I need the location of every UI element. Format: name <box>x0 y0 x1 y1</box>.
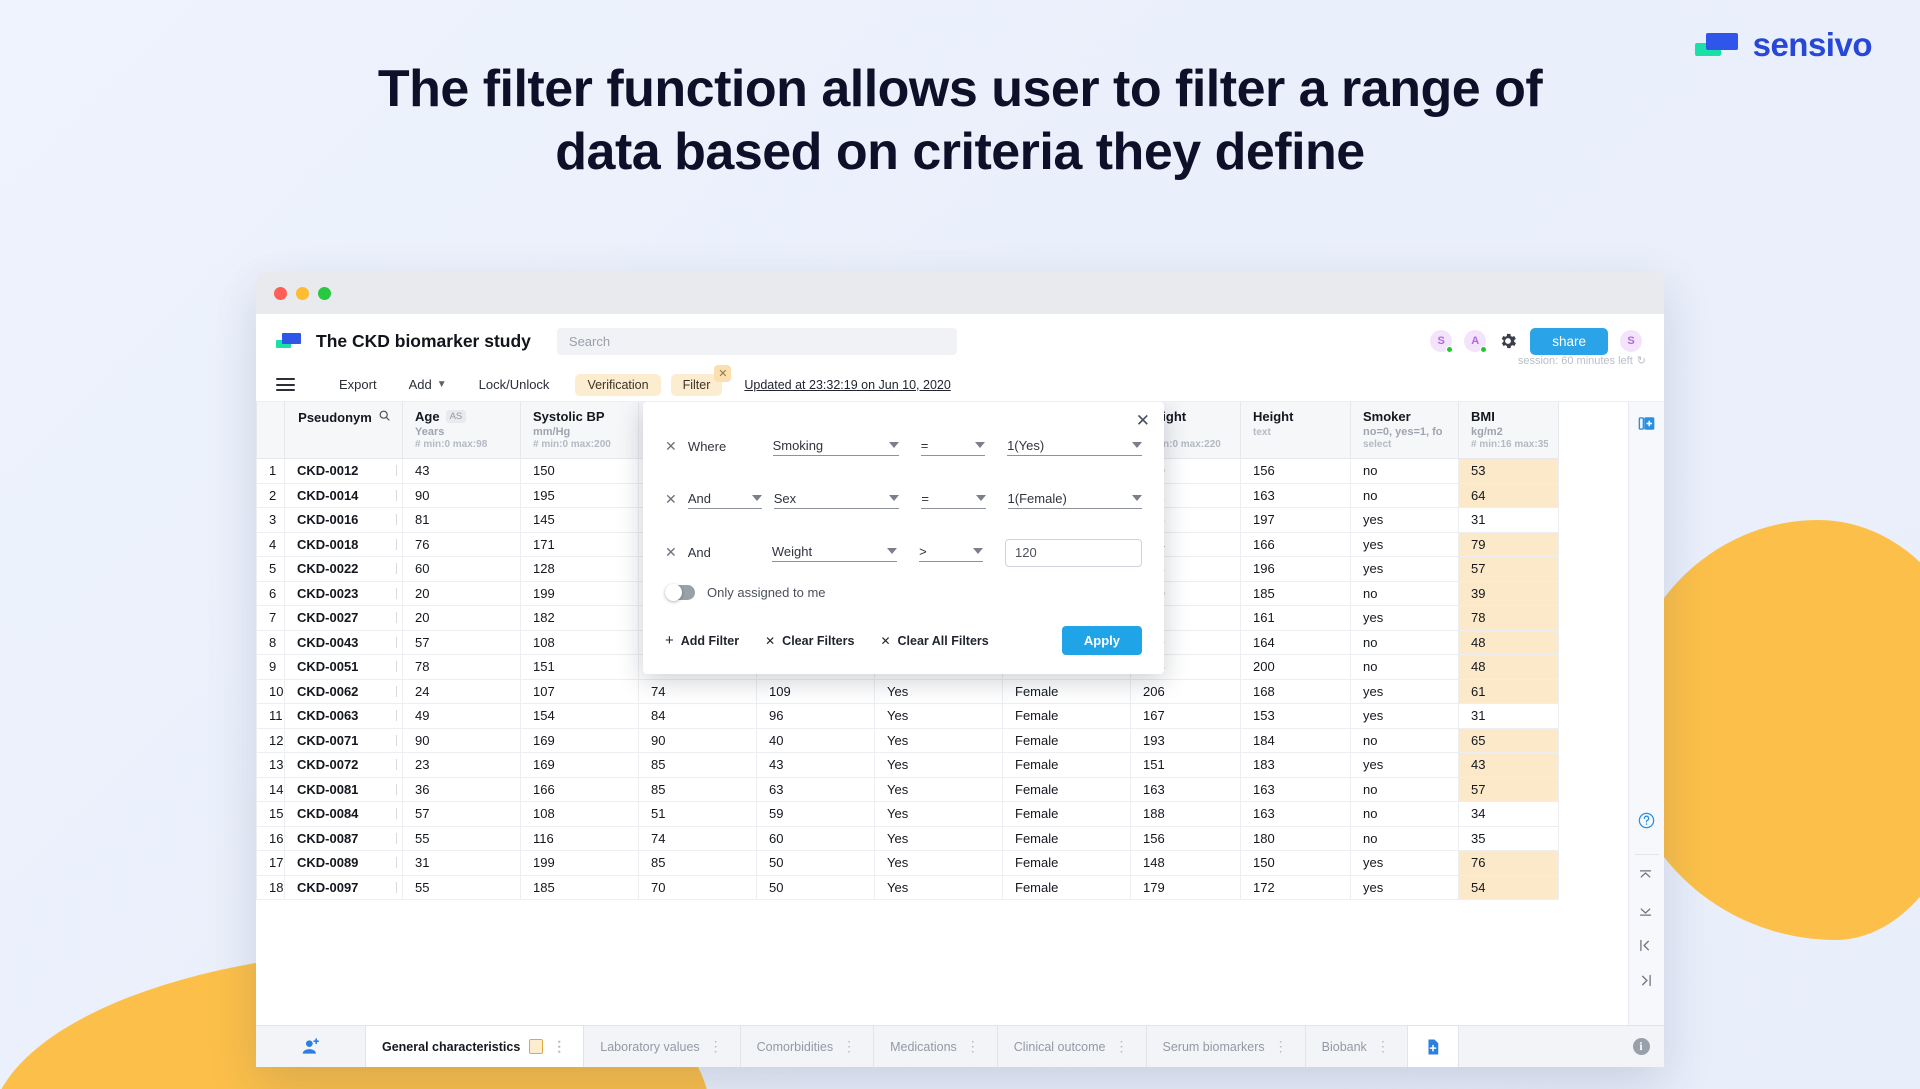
cell-age[interactable]: 23 <box>403 753 521 778</box>
cell-bmi[interactable]: 57 <box>1459 777 1559 802</box>
cell-smoker[interactable]: no <box>1351 826 1459 851</box>
chevron-down-icon <box>889 495 899 501</box>
sheet-tab-label: Clinical outcome <box>1014 1040 1106 1054</box>
table-row[interactable]: 16CKD-0087551167460YesFemale156180no35 <box>257 826 1559 851</box>
cell-bmi[interactable]: 48 <box>1459 630 1559 655</box>
cell-age[interactable]: 57 <box>403 630 521 655</box>
cell-height[interactable]: 185 <box>1241 581 1351 606</box>
column-badge: AS <box>446 410 467 423</box>
cell-smoker[interactable]: yes <box>1351 753 1459 778</box>
filter-operator-select-3[interactable]: > <box>919 544 983 562</box>
column-header-systolic-bp[interactable]: Systolic BP mm/Hg # min:0 max:200 <box>521 402 639 459</box>
cell-height[interactable]: 153 <box>1241 704 1351 729</box>
filter-field-value: Sex <box>774 491 796 506</box>
cell-systolic[interactable]: 185 <box>521 875 639 900</box>
cell-weight[interactable]: 163 <box>1131 777 1241 802</box>
sheet-tab-label: Serum biomarkers <box>1163 1040 1265 1054</box>
cell-age[interactable]: 20 <box>403 606 521 631</box>
cell-smoking[interactable]: Yes <box>875 802 1003 827</box>
sheet-tab-menu-icon[interactable]: ⋮ <box>552 1041 567 1052</box>
avatar-user-1[interactable]: S <box>1430 330 1452 352</box>
filter-value-select-2[interactable]: 1(Female) <box>1008 491 1142 509</box>
filter-panel: ✕ ✕ Where Smoking = 1(Yes) <box>643 402 1164 674</box>
row-handle-icon[interactable] <box>396 563 397 574</box>
filter-value-input-3[interactable] <box>1005 539 1142 567</box>
sheet-tab-clinical-outcome[interactable]: Clinical outcome⋮ <box>998 1026 1147 1067</box>
sheet-tab-laboratory-values[interactable]: Laboratory values⋮ <box>584 1026 740 1067</box>
cell-diastolic[interactable]: 85 <box>639 753 757 778</box>
table-row[interactable]: 12CKD-0071901699040YesFemale193184no65 <box>257 728 1559 753</box>
cell-hr[interactable]: 109 <box>757 679 875 704</box>
cell-smoking[interactable]: Yes <box>875 851 1003 876</box>
cell-smoking[interactable]: Yes <box>875 826 1003 851</box>
cell-height[interactable]: 180 <box>1241 826 1351 851</box>
cell-diastolic[interactable]: 84 <box>639 704 757 729</box>
chevron-down-icon <box>976 495 986 501</box>
cell-age[interactable]: 31 <box>403 851 521 876</box>
chevron-down-icon <box>887 548 897 554</box>
session-status: session: 60 minutes left ↻ <box>1518 354 1646 367</box>
cell-age[interactable]: 76 <box>403 532 521 557</box>
row-handle-icon[interactable] <box>396 808 397 819</box>
cell-sex[interactable]: Female <box>1003 704 1131 729</box>
cell-height[interactable]: 172 <box>1241 875 1351 900</box>
cell-diastolic[interactable]: 74 <box>639 826 757 851</box>
cell-pseudonym[interactable]: CKD-0062 <box>285 679 403 704</box>
clear-all-filters-button[interactable]: ✕ Clear All Filters <box>880 634 988 648</box>
brand-name: sensivo <box>1753 26 1872 64</box>
cell-systolic[interactable]: 107 <box>521 679 639 704</box>
search-icon[interactable] <box>378 409 391 425</box>
export-button[interactable]: Export <box>323 377 393 392</box>
filter-chip-label: Filter <box>683 378 711 392</box>
sheet-tab-medications[interactable]: Medications⋮ <box>874 1026 998 1067</box>
row-handle-icon[interactable] <box>396 588 397 599</box>
cell-bmi[interactable]: 78 <box>1459 606 1559 631</box>
close-icon: ✕ <box>880 634 890 648</box>
avatar-current-user[interactable]: S <box>1620 330 1642 352</box>
row-number: 13 <box>257 753 285 778</box>
cell-bmi[interactable]: 39 <box>1459 581 1559 606</box>
cell-smoker[interactable]: no <box>1351 459 1459 484</box>
scroll-to-first-icon[interactable] <box>1637 937 1656 956</box>
cell-diastolic[interactable]: 74 <box>639 679 757 704</box>
row-number-header <box>257 402 285 459</box>
cell-age[interactable]: 90 <box>403 728 521 753</box>
remove-filter-icon[interactable]: ✕ <box>665 544 688 561</box>
cell-pseudonym[interactable]: CKD-0016 <box>285 508 403 533</box>
cell-smoking[interactable]: Yes <box>875 679 1003 704</box>
cell-smoking[interactable]: Yes <box>875 875 1003 900</box>
cell-bmi[interactable]: 35 <box>1459 826 1559 851</box>
row-handle-icon[interactable] <box>396 514 397 525</box>
sheet-tab-biobank[interactable]: Biobank⋮ <box>1306 1026 1408 1067</box>
row-handle-icon[interactable] <box>396 465 397 476</box>
brand-logo: sensivo <box>1695 26 1872 64</box>
cell-weight[interactable]: 193 <box>1131 728 1241 753</box>
cell-smoker[interactable]: no <box>1351 581 1459 606</box>
page-headline: The filter function allows user to filte… <box>0 58 1920 185</box>
verification-chip-label: Verification <box>587 378 648 392</box>
cell-smoker[interactable]: no <box>1351 728 1459 753</box>
cell-systolic[interactable]: 199 <box>521 851 639 876</box>
row-handle-icon[interactable] <box>396 661 397 672</box>
cell-systolic[interactable]: 150 <box>521 459 639 484</box>
filter-conjunction-select-2[interactable]: And <box>688 491 762 509</box>
row-number: 7 <box>257 606 285 631</box>
sheet-tab-menu-icon[interactable]: ⋮ <box>1376 1041 1391 1052</box>
cell-age[interactable]: 55 <box>403 826 521 851</box>
cell-sex[interactable]: Female <box>1003 875 1131 900</box>
cell-bmi[interactable]: 53 <box>1459 459 1559 484</box>
row-handle-icon[interactable] <box>396 759 397 770</box>
sheet-tab-menu-icon[interactable]: ⋮ <box>842 1041 857 1052</box>
row-handle-icon[interactable] <box>396 833 397 844</box>
cell-pseudonym[interactable]: CKD-0022 <box>285 557 403 582</box>
remove-filter-icon[interactable]: ✕ <box>665 491 688 508</box>
cell-smoker[interactable]: yes <box>1351 508 1459 533</box>
filter-operator-select-1[interactable]: = <box>921 438 985 456</box>
row-handle-icon[interactable] <box>396 612 397 623</box>
sheet-tab-general-characteristics[interactable]: General characteristics⋮ <box>366 1026 584 1067</box>
cell-smoker[interactable]: yes <box>1351 557 1459 582</box>
row-number: 10 <box>257 679 285 704</box>
cell-weight[interactable]: 188 <box>1131 802 1241 827</box>
cell-height[interactable]: 168 <box>1241 679 1351 704</box>
window-minimize-icon[interactable] <box>296 287 309 300</box>
cell-age[interactable]: 36 <box>403 777 521 802</box>
refresh-icon[interactable]: ↻ <box>1637 354 1646 367</box>
row-handle-icon[interactable] <box>396 686 397 697</box>
sheet-tab-label: Laboratory values <box>600 1040 699 1054</box>
row-handle-icon[interactable] <box>396 637 397 648</box>
cell-bmi[interactable]: 76 <box>1459 851 1559 876</box>
cell-height[interactable]: 164 <box>1241 630 1351 655</box>
cell-height[interactable]: 161 <box>1241 606 1351 631</box>
verification-chip[interactable]: Verification <box>575 374 660 396</box>
filter-field-value: Weight <box>772 544 812 559</box>
filter-field-select-3[interactable]: Weight <box>772 544 897 562</box>
cell-age[interactable]: 20 <box>403 581 521 606</box>
add-filter-button[interactable]: + Add Filter <box>665 632 739 649</box>
cell-bmi[interactable]: 61 <box>1459 679 1559 704</box>
cell-systolic[interactable]: 116 <box>521 826 639 851</box>
cell-smoker[interactable]: yes <box>1351 532 1459 557</box>
cell-age[interactable]: 81 <box>403 508 521 533</box>
cell-smoker[interactable]: no <box>1351 802 1459 827</box>
cell-pseudonym[interactable]: CKD-0071 <box>285 728 403 753</box>
cell-hr[interactable]: 43 <box>757 753 875 778</box>
cell-systolic[interactable]: 128 <box>521 557 639 582</box>
sheet-tab-serum-biomarkers[interactable]: Serum biomarkers⋮ <box>1147 1026 1306 1067</box>
cell-pseudonym[interactable]: CKD-0027 <box>285 606 403 631</box>
cell-weight[interactable]: 206 <box>1131 679 1241 704</box>
cell-smoker[interactable]: no <box>1351 655 1459 680</box>
sheet-tab-label: Biobank <box>1322 1040 1367 1054</box>
add-collaborator-button[interactable] <box>256 1026 366 1067</box>
sheet-tab-menu-icon[interactable]: ⋮ <box>1115 1041 1130 1052</box>
cell-smoking[interactable]: Yes <box>875 704 1003 729</box>
sheet-tab-menu-icon[interactable]: ⋮ <box>709 1041 724 1052</box>
chevron-down-icon <box>1132 442 1142 448</box>
scroll-to-top-icon[interactable] <box>1637 867 1656 886</box>
table-row[interactable]: 11CKD-0063491548496YesFemale167153yes31 <box>257 704 1559 729</box>
cell-bmi[interactable]: 64 <box>1459 483 1559 508</box>
table-row[interactable]: 15CKD-0084571085159YesFemale188163no34 <box>257 802 1559 827</box>
search-input[interactable]: Search <box>557 328 957 355</box>
column-header-bmi[interactable]: BMI kg/m2 # min:16 max:35 <box>1459 402 1559 459</box>
cell-sex[interactable]: Female <box>1003 826 1131 851</box>
cell-bmi[interactable]: 31 <box>1459 704 1559 729</box>
cell-pseudonym[interactable]: CKD-0043 <box>285 630 403 655</box>
sheet-tabs: General characteristics⋮Laboratory value… <box>366 1026 1408 1067</box>
table-row[interactable]: 10CKD-00622410774109YesFemale206168yes61 <box>257 679 1559 704</box>
clear-filters-label: Clear Filters <box>782 634 854 648</box>
cell-bmi[interactable]: 57 <box>1459 557 1559 582</box>
headline-line-2: data based on criteria they define <box>240 121 1680 184</box>
cell-sex[interactable]: Female <box>1003 802 1131 827</box>
avatar-initial: S <box>1627 335 1634 347</box>
sheet-tab-comorbidities[interactable]: Comorbidities⋮ <box>741 1026 874 1067</box>
share-button[interactable]: share <box>1530 328 1608 355</box>
cell-hr[interactable]: 40 <box>757 728 875 753</box>
row-handle-icon[interactable] <box>396 539 397 550</box>
cell-systolic[interactable]: 169 <box>521 728 639 753</box>
cell-systolic[interactable]: 171 <box>521 532 639 557</box>
cell-age[interactable]: 43 <box>403 459 521 484</box>
sheet-tab-menu-icon[interactable]: ⋮ <box>1274 1041 1289 1052</box>
cell-systolic[interactable]: 154 <box>521 704 639 729</box>
window-close-icon[interactable] <box>274 287 287 300</box>
cell-pseudonym[interactable]: CKD-0087 <box>285 826 403 851</box>
cell-bmi[interactable]: 48 <box>1459 655 1559 680</box>
add-button-label: Add <box>409 377 432 392</box>
table-row[interactable]: 13CKD-0072231698543YesFemale151183yes43 <box>257 753 1559 778</box>
filter-panel-actions: + Add Filter ✕ Clear Filters ✕ Clear All… <box>665 626 1142 655</box>
cell-pseudonym[interactable]: CKD-0018 <box>285 532 403 557</box>
row-number: 5 <box>257 557 285 582</box>
cell-bmi[interactable]: 65 <box>1459 728 1559 753</box>
cell-smoker[interactable]: yes <box>1351 704 1459 729</box>
row-number: 12 <box>257 728 285 753</box>
cell-diastolic[interactable]: 85 <box>639 851 757 876</box>
cell-smoker[interactable]: no <box>1351 777 1459 802</box>
cell-hr[interactable]: 50 <box>757 875 875 900</box>
filter-chip[interactable]: Filter ✕ <box>671 374 723 396</box>
cell-smoker[interactable]: no <box>1351 483 1459 508</box>
lock-unlock-button[interactable]: Lock/Unlock <box>463 377 566 392</box>
app-logo-icon <box>276 333 302 349</box>
cell-pseudonym[interactable]: CKD-0081 <box>285 777 403 802</box>
cell-diastolic[interactable]: 51 <box>639 802 757 827</box>
app-window: The CKD biomarker study Search S A share… <box>256 272 1664 1067</box>
apply-button[interactable]: Apply <box>1062 626 1142 655</box>
cell-height[interactable]: 196 <box>1241 557 1351 582</box>
cell-pseudonym[interactable]: CKD-0014 <box>285 483 403 508</box>
cell-systolic[interactable]: 195 <box>521 483 639 508</box>
cell-diastolic[interactable]: 70 <box>639 875 757 900</box>
cell-weight[interactable]: 156 <box>1131 826 1241 851</box>
cell-pseudonym[interactable]: CKD-0097 <box>285 875 403 900</box>
cell-systolic[interactable]: 108 <box>521 630 639 655</box>
cell-bmi[interactable]: 79 <box>1459 532 1559 557</box>
sheet-note-icon[interactable] <box>529 1039 543 1054</box>
gear-icon[interactable] <box>1498 331 1518 351</box>
cell-bmi[interactable]: 43 <box>1459 753 1559 778</box>
cell-systolic[interactable]: 166 <box>521 777 639 802</box>
table-row[interactable]: 18CKD-0097551857050YesFemale179172yes54 <box>257 875 1559 900</box>
cell-smoker[interactable]: yes <box>1351 875 1459 900</box>
cell-age[interactable]: 57 <box>403 802 521 827</box>
scroll-to-bottom-icon[interactable] <box>1637 902 1656 921</box>
cell-pseudonym[interactable]: CKD-0023 <box>285 581 403 606</box>
filter-panel-close-icon[interactable]: ✕ <box>1136 412 1150 429</box>
cell-age[interactable]: 49 <box>403 704 521 729</box>
filter-field-select-2[interactable]: Sex <box>774 491 900 509</box>
cell-hr[interactable]: 59 <box>757 802 875 827</box>
table-row[interactable]: 17CKD-0089311998550YesFemale148150yes76 <box>257 851 1559 876</box>
cell-systolic[interactable]: 151 <box>521 655 639 680</box>
cell-hr[interactable]: 96 <box>757 704 875 729</box>
chevron-down-icon <box>973 548 983 554</box>
column-header-age[interactable]: Age AS Years # min:0 max:98 <box>403 402 521 459</box>
cell-smoker[interactable]: yes <box>1351 606 1459 631</box>
cell-weight[interactable]: 179 <box>1131 875 1241 900</box>
help-icon[interactable] <box>1637 811 1656 830</box>
filter-operator-value: = <box>921 491 929 506</box>
column-range: # min:0 max:200 <box>533 439 628 450</box>
cell-bmi[interactable]: 31 <box>1459 508 1559 533</box>
cell-weight[interactable]: 148 <box>1131 851 1241 876</box>
cell-pseudonym[interactable]: CKD-0051 <box>285 655 403 680</box>
only-assigned-toggle[interactable] <box>665 585 695 600</box>
cell-diastolic[interactable]: 85 <box>639 777 757 802</box>
cell-age[interactable]: 60 <box>403 557 521 582</box>
row-handle-icon[interactable] <box>396 710 397 721</box>
add-button[interactable]: Add ▼ <box>393 377 463 392</box>
remove-filter-icon[interactable]: ✕ <box>665 438 688 455</box>
cell-sex[interactable]: Female <box>1003 777 1131 802</box>
cell-systolic[interactable]: 108 <box>521 802 639 827</box>
add-column-icon[interactable] <box>1637 414 1656 433</box>
column-title: Height <box>1253 409 1293 424</box>
cell-weight[interactable]: 151 <box>1131 753 1241 778</box>
cell-height[interactable]: 156 <box>1241 459 1351 484</box>
scroll-to-last-icon[interactable] <box>1637 972 1656 991</box>
window-maximize-icon[interactable] <box>318 287 331 300</box>
cell-smoking[interactable]: Yes <box>875 753 1003 778</box>
column-unit: no=0, yes=1, fo <box>1363 426 1448 438</box>
row-handle-icon[interactable] <box>396 857 397 868</box>
updated-timestamp[interactable]: Updated at 23:32:19 on Jun 10, 2020 <box>744 378 950 392</box>
cell-smoking[interactable]: Yes <box>875 777 1003 802</box>
column-range: # min:0 max:98 <box>415 439 510 450</box>
cell-age[interactable]: 78 <box>403 655 521 680</box>
row-number: 8 <box>257 630 285 655</box>
cell-pseudonym[interactable]: CKD-0063 <box>285 704 403 729</box>
close-icon[interactable]: ✕ <box>714 365 731 382</box>
row-number: 3 <box>257 508 285 533</box>
column-header-height[interactable]: Height text <box>1241 402 1351 459</box>
cell-sex[interactable]: Female <box>1003 679 1131 704</box>
row-handle-icon[interactable] <box>396 490 397 501</box>
cell-pseudonym[interactable]: CKD-0089 <box>285 851 403 876</box>
row-number: 18 <box>257 875 285 900</box>
row-handle-icon[interactable] <box>396 735 397 746</box>
menu-icon[interactable] <box>276 378 295 391</box>
cell-systolic[interactable]: 145 <box>521 508 639 533</box>
avatar-initial: A <box>1471 335 1479 347</box>
cell-hr[interactable]: 50 <box>757 851 875 876</box>
cell-height[interactable]: 197 <box>1241 508 1351 533</box>
cell-height[interactable]: 150 <box>1241 851 1351 876</box>
row-number: 1 <box>257 459 285 484</box>
info-button[interactable]: i <box>1618 1026 1664 1067</box>
add-sheet-button[interactable] <box>1408 1026 1459 1067</box>
cell-smoker[interactable]: yes <box>1351 851 1459 876</box>
filter-operator-select-2[interactable]: = <box>921 491 985 509</box>
column-header-smoker[interactable]: Smoker no=0, yes=1, fo select <box>1351 402 1459 459</box>
cell-pseudonym[interactable]: CKD-0084 <box>285 802 403 827</box>
cell-smoker[interactable]: no <box>1351 630 1459 655</box>
cell-age[interactable]: 24 <box>403 679 521 704</box>
cell-height[interactable]: 166 <box>1241 532 1351 557</box>
column-range: select <box>1363 439 1448 450</box>
column-unit: mm/Hg <box>533 426 628 438</box>
avatar-user-2[interactable]: A <box>1464 330 1486 352</box>
chevron-down-icon <box>975 442 985 448</box>
cell-hr[interactable]: 60 <box>757 826 875 851</box>
cell-pseudonym[interactable]: CKD-0012 <box>285 459 403 484</box>
column-title: BMI <box>1471 409 1495 424</box>
row-handle-icon[interactable] <box>396 882 397 893</box>
headline-line-1: The filter function allows user to filte… <box>240 58 1680 121</box>
cell-sex[interactable]: Female <box>1003 851 1131 876</box>
cell-bmi[interactable]: 34 <box>1459 802 1559 827</box>
add-filter-label: Add Filter <box>681 634 739 648</box>
column-header-pseudonym[interactable]: Pseudonym <box>285 402 403 459</box>
cell-pseudonym[interactable]: CKD-0072 <box>285 753 403 778</box>
cell-height[interactable]: 163 <box>1241 777 1351 802</box>
cell-height[interactable]: 183 <box>1241 753 1351 778</box>
cell-weight[interactable]: 167 <box>1131 704 1241 729</box>
cell-age[interactable]: 90 <box>403 483 521 508</box>
plus-icon: + <box>665 632 674 649</box>
row-handle-icon[interactable] <box>396 784 397 795</box>
study-title: The CKD biomarker study <box>316 331 531 352</box>
cell-height[interactable]: 163 <box>1241 802 1351 827</box>
cell-bmi[interactable]: 54 <box>1459 875 1559 900</box>
clear-filters-button[interactable]: ✕ Clear Filters <box>765 634 854 648</box>
cell-systolic[interactable]: 169 <box>521 753 639 778</box>
cell-sex[interactable]: Female <box>1003 753 1131 778</box>
filter-field-select-1[interactable]: Smoking <box>773 438 899 456</box>
cell-hr[interactable]: 63 <box>757 777 875 802</box>
table-row[interactable]: 14CKD-0081361668563YesFemale163163no57 <box>257 777 1559 802</box>
filter-value-select-1[interactable]: 1(Yes) <box>1007 438 1142 456</box>
cell-systolic[interactable]: 182 <box>521 606 639 631</box>
cell-diastolic[interactable]: 90 <box>639 728 757 753</box>
cell-height[interactable]: 184 <box>1241 728 1351 753</box>
cell-smoker[interactable]: yes <box>1351 679 1459 704</box>
cell-systolic[interactable]: 199 <box>521 581 639 606</box>
cell-height[interactable]: 200 <box>1241 655 1351 680</box>
sheet-tab-menu-icon[interactable]: ⋮ <box>966 1041 981 1052</box>
cell-height[interactable]: 163 <box>1241 483 1351 508</box>
cell-age[interactable]: 55 <box>403 875 521 900</box>
cell-sex[interactable]: Female <box>1003 728 1131 753</box>
cell-smoking[interactable]: Yes <box>875 728 1003 753</box>
